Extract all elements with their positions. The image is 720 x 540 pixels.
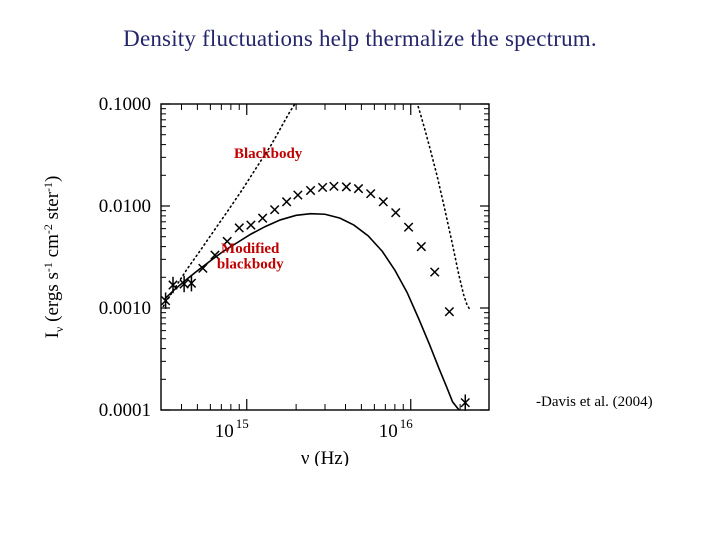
x-tick-label-exponent: 15	[236, 416, 249, 431]
plot-data-markers	[161, 182, 469, 411]
y-axis-title: Iν (ergs s-1 cm-2 ster-1)	[41, 176, 66, 339]
data-point-marker	[318, 183, 326, 191]
data-point-marker	[270, 205, 278, 213]
data-point-marker	[235, 224, 243, 232]
data-point-marker	[306, 186, 314, 194]
data-point-marker	[354, 184, 362, 192]
data-point-marker	[392, 208, 400, 216]
spectrum-plot-svg: 0.10000.01000.00100.000110151016 Blackbo…	[28, 86, 528, 466]
data-point-marker	[417, 242, 425, 250]
data-point-marker	[404, 223, 412, 231]
curve-blackbody-1	[417, 102, 470, 309]
data-point-marker	[247, 221, 255, 229]
curve-annotation: blackbody	[217, 256, 284, 272]
data-point-marker	[282, 198, 290, 206]
plot-annotations: BlackbodyModifiedblackbody	[217, 146, 303, 272]
x-tick-label-mantissa: 10	[215, 421, 234, 442]
y-tick-label: 0.0001	[99, 400, 151, 421]
spectrum-figure: 0.10000.01000.00100.000110151016 Blackbo…	[28, 86, 528, 466]
x-axis-title: ν (Hz)	[301, 448, 349, 466]
data-point-marker	[294, 191, 302, 199]
data-point-marker	[367, 190, 375, 198]
data-point-marker	[431, 268, 439, 276]
citation-text: -Davis et al. (2004)	[536, 394, 653, 411]
plot-curves	[163, 102, 469, 412]
slide-canvas: Density fluctuations help thermalize the…	[0, 0, 720, 540]
plot-frame	[161, 104, 489, 410]
curve-annotation: Modified	[221, 241, 280, 257]
x-tick-label-exponent: 16	[400, 416, 414, 431]
axis-titles: ν (Hz)Iν (ergs s-1 cm-2 ster-1)	[41, 176, 349, 466]
data-point-marker	[342, 183, 350, 191]
curve-blackbody-0	[163, 102, 296, 306]
curve-annotation: Blackbody	[234, 146, 303, 162]
y-tick-label: 0.0010	[99, 298, 151, 319]
data-point-marker	[169, 277, 177, 293]
y-tick-label: 0.0100	[99, 196, 151, 217]
x-tick-label-mantissa: 10	[379, 421, 398, 442]
data-point-marker	[330, 182, 338, 190]
data-point-marker	[461, 394, 469, 410]
data-point-marker	[445, 307, 453, 315]
slide-title: Density fluctuations help thermalize the…	[0, 26, 720, 52]
data-point-marker	[379, 198, 387, 206]
data-point-marker	[258, 214, 266, 222]
y-tick-label: 0.1000	[99, 94, 151, 115]
